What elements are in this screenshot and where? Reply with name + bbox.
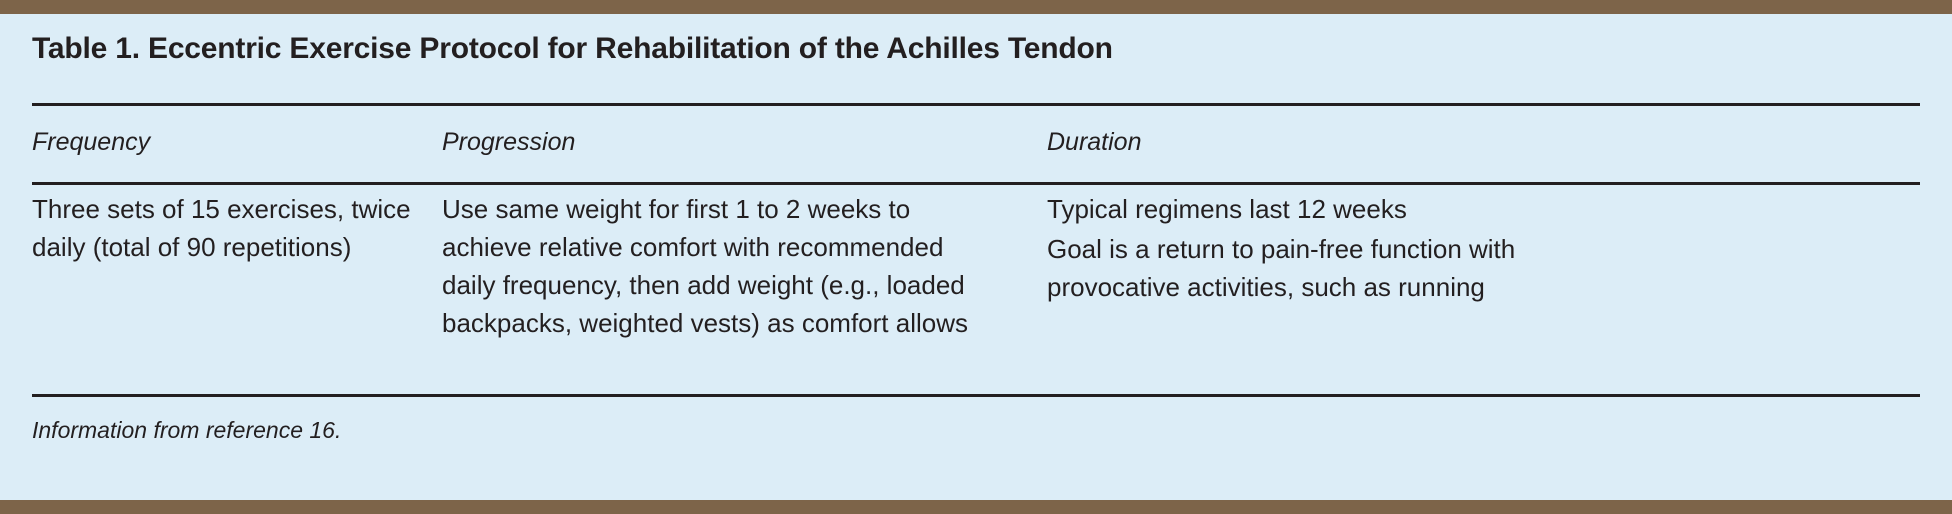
table-inner: Table 1. Eccentric Exercise Protocol for…	[32, 14, 1920, 500]
column-header-duration: Duration	[1047, 128, 1687, 157]
table-cell-duration: Typical regimens last 12 weeks Goal is a…	[1047, 190, 1687, 306]
cell-paragraph: Three sets of 15 exercises, twice daily …	[32, 190, 432, 266]
table-figure: Table 1. Eccentric Exercise Protocol for…	[0, 0, 1952, 514]
bottom-accent-bar	[0, 500, 1952, 514]
cell-line: provocative activities, such as running	[1047, 268, 1687, 306]
table-header-row: Frequency Progression Duration	[32, 128, 1920, 168]
column-header-label: Progression	[442, 128, 1042, 157]
rule-under-title	[32, 103, 1920, 106]
cell-line: achieve relative comfort with recommende…	[442, 228, 1042, 266]
cell-line: Goal is a return to pain-free function w…	[1047, 230, 1687, 268]
column-header-frequency: Frequency	[32, 128, 432, 157]
column-header-label: Duration	[1047, 128, 1687, 157]
table-cell-progression: Use same weight for first 1 to 2 weeks t…	[442, 190, 1042, 342]
cell-line: Use same weight for first 1 to 2 weeks t…	[442, 190, 1042, 228]
rule-under-header	[32, 182, 1920, 185]
table-title: Table 1. Eccentric Exercise Protocol for…	[32, 32, 1113, 66]
table-footnote: Information from reference 16.	[32, 417, 341, 444]
top-accent-bar	[0, 0, 1952, 14]
cell-line: Three sets of 15 exercises, twice	[32, 190, 432, 228]
table-cell-frequency: Three sets of 15 exercises, twice daily …	[32, 190, 432, 266]
cell-paragraph: Use same weight for first 1 to 2 weeks t…	[442, 190, 1042, 342]
cell-line: Typical regimens last 12 weeks	[1047, 190, 1687, 228]
cell-line: daily frequency, then add weight (e.g., …	[442, 266, 1042, 304]
cell-line: daily (total of 90 repetitions)	[32, 228, 432, 266]
rule-above-footnote	[32, 394, 1920, 397]
cell-paragraph: Typical regimens last 12 weeks	[1047, 190, 1687, 228]
cell-line: backpacks, weighted vests) as comfort al…	[442, 304, 1042, 342]
cell-paragraph: Goal is a return to pain-free function w…	[1047, 230, 1687, 306]
column-header-progression: Progression	[442, 128, 1042, 157]
column-header-label: Frequency	[32, 128, 432, 157]
